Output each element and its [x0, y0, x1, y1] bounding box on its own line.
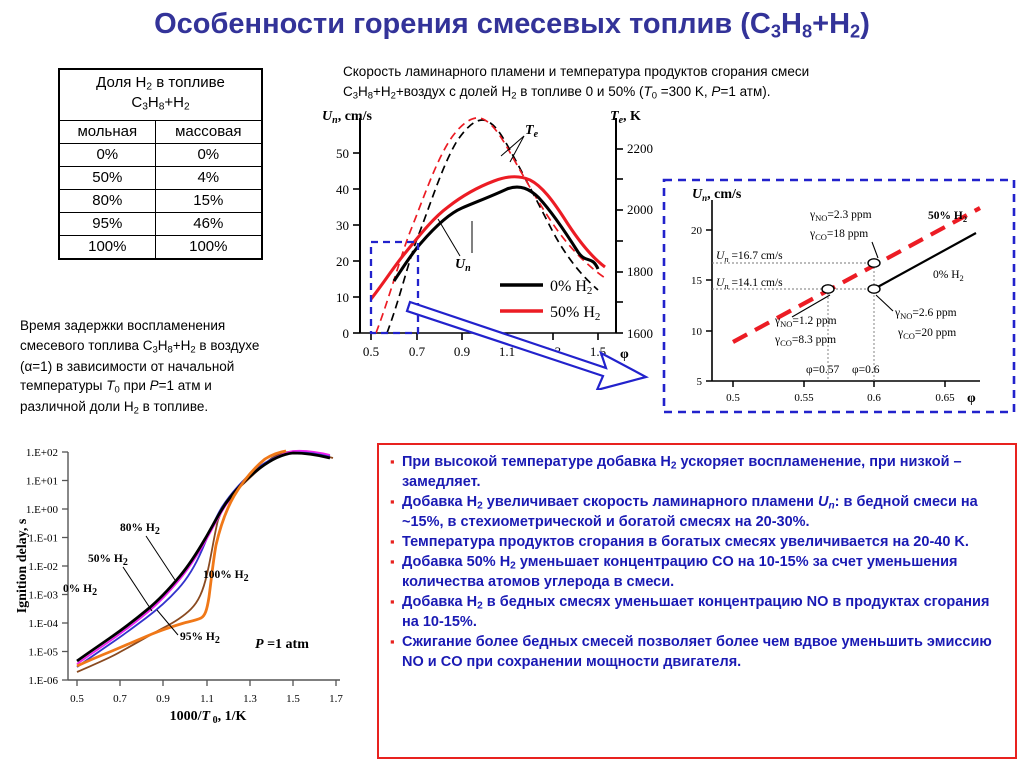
inset-xtick-0.5: 0.5 [726, 392, 740, 404]
conclusions-list: При высокой температуре добавка H2 ускор… [389, 453, 1005, 672]
delay-ytick-6: 1.E-04 [28, 618, 58, 630]
delay-label-50pct: 50% H2 [88, 553, 128, 568]
h2-fraction-table: Доля H2 в топливеC3H8+H2 мольная массова… [58, 68, 263, 260]
ytick-right-1800: 1800 [627, 264, 653, 279]
col-header-mass: массовая [155, 120, 262, 143]
delay-ytick-3: 1.E-01 [28, 533, 58, 545]
delay-xtick-1.3: 1.3 [243, 693, 257, 705]
cell-molar: 95% [59, 212, 155, 235]
delay-label-95pct: 95% H2 [180, 631, 220, 646]
ytick-right-2000: 2000 [627, 202, 653, 217]
delay-x-axis-title: 1000/T 0, 1/K [170, 709, 247, 726]
delay-ytick-1: 1.E+01 [26, 476, 58, 488]
delay-annotation-pressure: P =1 atm [255, 637, 309, 652]
ytick-right-2200: 2200 [627, 141, 653, 156]
inset-marker-phi057 [822, 285, 834, 293]
series-un-0pct [394, 187, 598, 281]
inset-ytick-20: 20 [691, 225, 703, 237]
delay-curve-labels: 80% H2 50% H2 0% H2 100% H2 95% H2 [63, 522, 249, 646]
delay-label-80pct: 80% H2 [120, 522, 160, 537]
ytick-left-10: 10 [336, 290, 349, 305]
ignition-delay-chart: 1.E+02 1.E+01 1.E+00 1.E-01 1.E-02 1.E-0… [0, 432, 372, 732]
arrow-shape [407, 302, 646, 390]
label-Te: Te [525, 123, 539, 140]
table-title-cell: Доля H2 в топливеC3H8+H2 [59, 69, 262, 120]
inset-xtick-0.55: 0.55 [794, 392, 814, 404]
conclusion-item-3: Температура продуктов сгорания в богатых… [389, 533, 1005, 552]
inset-y-ticks: 5 10 15 20 [691, 225, 712, 388]
conclusion-item-2: Добавка H2 увеличивает скорость ламинарн… [389, 493, 1005, 532]
delay-x-ticks: 0.5 0.7 0.9 1.1 1.3 1.5 1.7 [70, 680, 343, 705]
table-row: 80% 15% [59, 189, 262, 212]
col-header-molar: мольная [59, 120, 155, 143]
table-row: 95% 46% [59, 212, 262, 235]
inset-ytick-5: 5 [697, 376, 703, 388]
cell-molar: 50% [59, 166, 155, 189]
inset-marker-phi06-0pct [868, 285, 880, 293]
delay-ytick-8: 1.E-06 [28, 675, 58, 687]
conclusion-item-6: Сжигание более бедных смесей позволяет б… [389, 633, 1005, 671]
inset-label-phi-06: φ=0.6 [852, 364, 880, 376]
inset-ann-gamma-co-83: γCO=8.3 ppm [774, 334, 836, 348]
cell-molar: 0% [59, 143, 155, 166]
delay-ytick-0: 1.E+02 [26, 447, 58, 459]
inset-ytick-15: 15 [691, 275, 703, 287]
inset-ann-gamma-co-20: γCO=20 ppm [897, 327, 956, 341]
delay-xtick-0.9: 0.9 [156, 693, 170, 705]
inset-y-axis-title: Un, cm/s [692, 187, 742, 203]
inset-series-label-50pct: 50% H2 [928, 210, 967, 224]
left-axis-title: Un, cm/s [322, 109, 372, 126]
delay-xtick-0.7: 0.7 [113, 693, 127, 705]
ignition-delay-caption: Время задержки воспламенения смесевого т… [20, 316, 320, 418]
inset-xtick-0.65: 0.65 [935, 392, 955, 404]
inset-ann-gamma-no-12: γNO=1.2 ppm [774, 315, 837, 329]
table-row: 100% 100% [59, 235, 262, 259]
delay-xtick-1.7: 1.7 [329, 693, 343, 705]
inset-ann-gamma-no-23: γNO=2.3 ppm [809, 209, 872, 223]
inset-label-un-167: Un =16.7 cm/s [716, 250, 783, 264]
inset-ytick-10: 10 [691, 326, 703, 338]
cell-mass: 0% [155, 143, 262, 166]
ytick-left-30: 30 [336, 218, 349, 233]
ytick-left-0: 0 [343, 326, 350, 341]
delay-ytick-4: 1.E-02 [28, 561, 58, 573]
conclusion-item-1: При высокой температуре добавка H2 ускор… [389, 453, 1005, 492]
cell-mass: 46% [155, 212, 262, 235]
caption-line-1: Скорость ламинарного пламени и температу… [343, 64, 809, 79]
inset-lean-chart: 5 10 15 20 0.5 0.55 0.6 0.65 φ Un, cm/s [662, 178, 1018, 416]
delay-ytick-5: 1.E-03 [28, 590, 58, 602]
delay-y-axis-title: Ignition delay, s [15, 518, 30, 613]
delay-xtick-1.1: 1.1 [200, 693, 214, 705]
xtick-0.5: 0.5 [363, 344, 379, 359]
inset-marker-phi06-50pct [868, 259, 880, 267]
delay-xtick-1.5: 1.5 [286, 693, 300, 705]
cell-molar: 100% [59, 235, 155, 259]
table-header-row: Доля H2 в топливеC3H8+H2 [59, 69, 262, 120]
inset-series-label-0pct: 0% H2 [933, 269, 964, 283]
inset-ann-gamma-no-26: γNO=2.6 ppm [894, 307, 957, 321]
ytick-left-20: 20 [336, 254, 349, 269]
delay-y-ticks: 1.E+02 1.E+01 1.E+00 1.E-01 1.E-02 1.E-0… [26, 447, 68, 687]
delay-xtick-0.5: 0.5 [70, 693, 84, 705]
delay-caption-line-1: Время задержки воспламенения [20, 318, 225, 333]
conclusion-item-4: Добавка 50% H2 уменьшает концентрацию CO… [389, 553, 1005, 592]
inset-leader-top [872, 242, 878, 258]
flame-chart-caption: Скорость ламинарного пламени и температу… [343, 62, 918, 104]
ytick-left-50: 50 [336, 146, 349, 161]
table-row: 0% 0% [59, 143, 262, 166]
table-column-header-row: мольная массовая [59, 120, 262, 143]
delay-ytick-2: 1.E+00 [26, 504, 59, 516]
inset-label-phi-057: φ=0.57 [806, 364, 839, 376]
conclusion-item-5: Добавка H2 в бедных смесях уменьшает кон… [389, 593, 1005, 632]
label-Un: Un [455, 257, 471, 274]
inset-xtick-0.6: 0.6 [867, 392, 881, 404]
annotation-Un: Un [438, 219, 472, 274]
cell-mass: 15% [155, 189, 262, 212]
table-row: 50% 4% [59, 166, 262, 189]
cell-molar: 80% [59, 189, 155, 212]
inset-leader-right [876, 295, 893, 311]
right-axis-title: Te, K [610, 109, 641, 126]
cell-mass: 100% [155, 235, 262, 259]
delay-ytick-7: 1.E-05 [28, 647, 58, 659]
page-title: Особенности горения смесевых топлив (C3H… [0, 8, 1024, 43]
slide-root: Особенности горения смесевых топлив (C3H… [0, 0, 1024, 768]
zoom-callout-arrow [398, 280, 688, 390]
left-axis-ticks: 0 10 20 30 40 50 [336, 146, 360, 341]
ytick-left-40: 40 [336, 182, 349, 197]
conclusions-box: При высокой температуре добавка H2 ускор… [377, 443, 1017, 759]
cell-mass: 4% [155, 166, 262, 189]
inset-label-un-141: Un =14.1 cm/s [716, 277, 783, 291]
inset-ann-gamma-co-18: γCO=18 ppm [809, 228, 868, 242]
inset-x-axis-title: φ [967, 391, 976, 406]
inset-x-ticks: 0.5 0.55 0.6 0.65 φ [726, 381, 976, 406]
